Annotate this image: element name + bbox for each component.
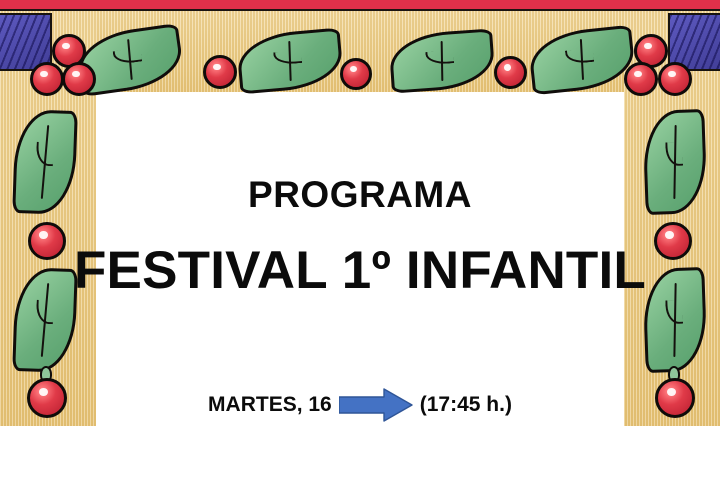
schedule-row: MARTES, 16 (17:45 h.) (0, 388, 720, 422)
page-title-programa: PROGRAMA (0, 174, 720, 216)
schedule-time-label: (17:45 h.) (420, 393, 512, 417)
right-arrow-icon (332, 388, 420, 422)
schedule-day-label: MARTES, 16 (208, 393, 332, 417)
christmas-program-poster: PROGRAMA FESTIVAL 1º INFANTIL MARTES, 16… (0, 0, 720, 480)
poster-text-layer: PROGRAMA FESTIVAL 1º INFANTIL MARTES, 16… (0, 0, 720, 480)
page-title-festival: FESTIVAL 1º INFANTIL (0, 240, 720, 301)
